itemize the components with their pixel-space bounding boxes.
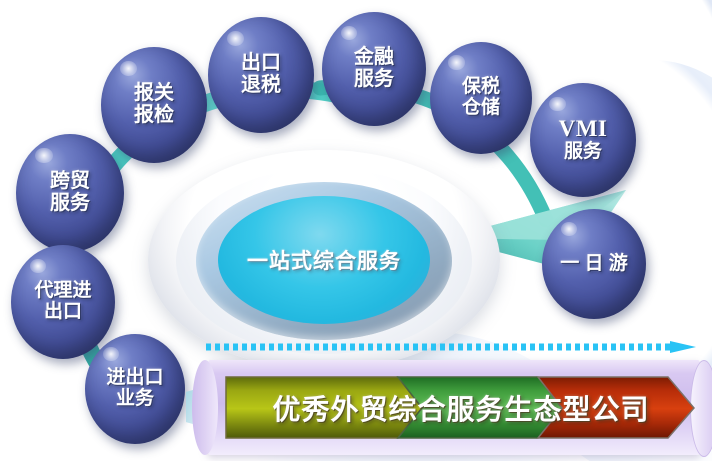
dotted-arrow-right-icon — [204, 340, 704, 354]
node-kuamao-line1: 跨贸 — [50, 171, 90, 193]
node-jinrong-fuwu[interactable]: 金融 服务 — [322, 12, 426, 126]
node-jinrong-line1: 金融 — [354, 47, 394, 69]
node-daili-line1: 代理进 — [34, 281, 91, 302]
node-daili-jinchukou[interactable]: 代理进 出口 — [11, 245, 115, 359]
node-kuamao-fuwu[interactable]: 跨贸 服务 — [16, 134, 124, 252]
node-baoshui-line2: 仓储 — [462, 98, 500, 119]
node-baoguan-baojian[interactable]: 报关 报检 — [101, 47, 207, 163]
node-baoguan-line2: 报检 — [134, 105, 174, 127]
node-kuamao-line2: 服务 — [50, 193, 90, 215]
node-chukou-tuishui[interactable]: 出口 退税 — [208, 17, 314, 133]
banner-label: 优秀外贸综合服务生态型公司 — [222, 372, 700, 444]
node-yiriyou-line1: 一 日 游 — [560, 254, 628, 275]
infographic-canvas: 一站式综合服务 跨贸 服务 报关 报检 出口 退税 金融 服务 保税 仓储 VM… — [0, 0, 712, 461]
node-chukou-line1: 出口 — [241, 53, 281, 75]
node-jinchukou-line1: 进出口 — [106, 368, 163, 389]
center-label: 一站式综合服务 — [218, 196, 430, 324]
node-jinchukou-yewu[interactable]: 进出口 业务 — [85, 334, 185, 444]
node-daili-line2: 出口 — [44, 302, 82, 323]
node-yiriyou[interactable]: 一 日 游 — [542, 209, 646, 319]
banner-cap-left — [192, 360, 218, 455]
banner: 优秀外贸综合服务生态型公司 — [186, 358, 712, 458]
node-vmi-fuwu[interactable]: VMI 服务 — [530, 83, 636, 197]
node-vmi-line1: VMI — [559, 117, 608, 142]
node-jinrong-line2: 服务 — [354, 69, 394, 91]
node-baoguan-line1: 报关 — [134, 83, 174, 105]
node-chukou-line2: 退税 — [241, 75, 281, 97]
node-baoshui-cangchu[interactable]: 保税 仓储 — [430, 42, 532, 154]
node-vmi-line2: 服务 — [564, 142, 602, 163]
node-jinchukou-line2: 业务 — [116, 389, 154, 410]
node-baoshui-line1: 保税 — [462, 77, 500, 98]
